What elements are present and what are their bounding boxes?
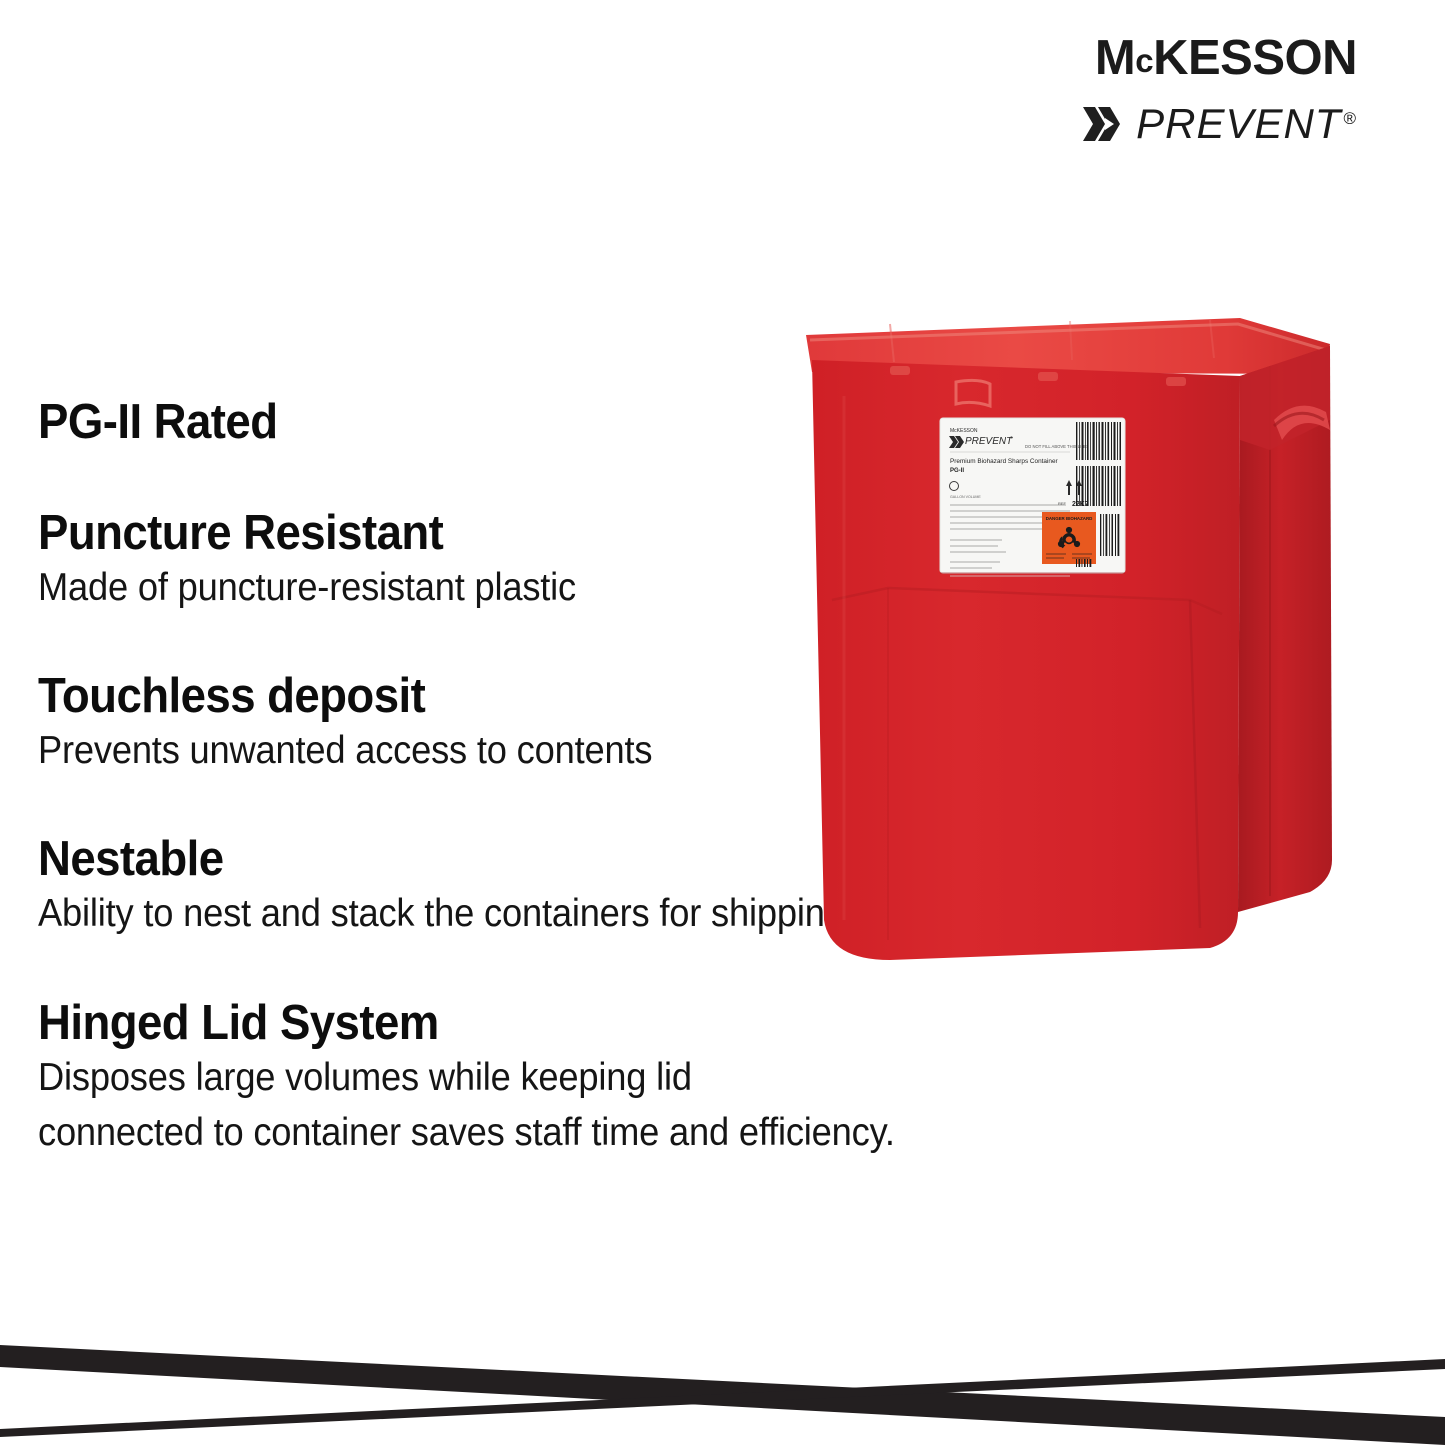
label-registered: ® [1010, 435, 1013, 440]
lid-tab [1038, 372, 1058, 381]
feature-body-line-2: connected to container saves staff time … [38, 1105, 1024, 1160]
brand-lockup: McKESSON PREVENT® [1081, 34, 1357, 145]
mckesson-c: c [1135, 42, 1153, 79]
prevent-lockup: PREVENT® [1081, 103, 1357, 145]
label-volume-text: GALLON VOLUME [950, 495, 981, 499]
label-fill-line-text: DO NOT FILL ABOVE THIS LINE [1025, 444, 1087, 449]
mckesson-kesson: KESSON [1153, 31, 1357, 85]
feature-hinged-lid-system: Hinged Lid System Disposes large volumes… [38, 997, 1098, 1161]
label-prevent-word: PREVENT [965, 436, 1013, 447]
mckesson-wordmark: McKESSON [1081, 34, 1357, 83]
product-label: McKESSON PREVENT ® DO NOT FILL ABOVE THI… [940, 418, 1125, 576]
label-title: Premium Biohazard Sharps Container [950, 458, 1058, 465]
label-model: PG-II [950, 468, 964, 474]
sharps-container-illustration: McKESSON PREVENT ® DO NOT FILL ABOVE THI… [770, 300, 1370, 980]
barcode-icon [1076, 422, 1121, 460]
biohazard-label-text: DANGER BIOHAZARD [1046, 516, 1093, 521]
feature-body-line-1: Disposes large volumes while keeping lid [38, 1050, 1024, 1105]
lid-tab [890, 366, 910, 375]
barcode-icon [1076, 466, 1121, 506]
decorative-lines [0, 1325, 1445, 1445]
prevent-wordmark: PREVENT® [1136, 103, 1357, 145]
lid-tab [1166, 377, 1186, 386]
label-mckesson: McKESSON [950, 428, 978, 434]
prevent-text: PREVENT [1136, 100, 1341, 147]
poster-canvas: McKESSON PREVENT® PG-II Rated Puncture R… [0, 0, 1445, 1445]
registered-mark: ® [1343, 109, 1357, 128]
product-image-sharps-container: McKESSON PREVENT ® DO NOT FILL ABOVE THI… [770, 300, 1370, 980]
double-chevron-icon [1081, 105, 1127, 143]
feature-heading: Hinged Lid System [38, 997, 1024, 1050]
mckesson-m: M [1095, 31, 1135, 85]
label-code-prefix: REF [1058, 501, 1067, 506]
label-code: 22K7 [1072, 501, 1089, 508]
